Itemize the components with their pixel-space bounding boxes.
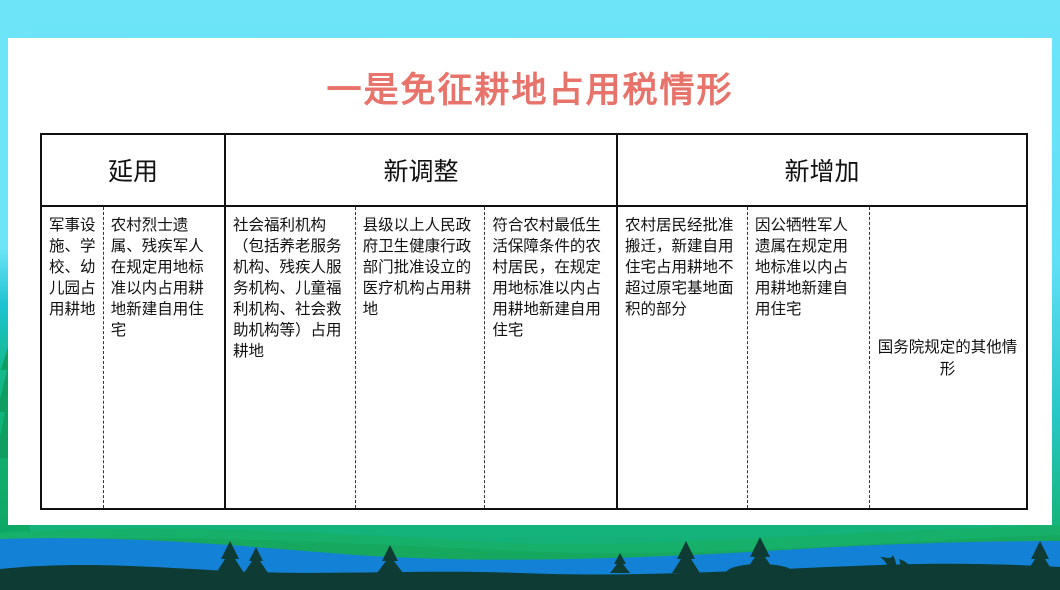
table-body: 军事设施、学校、幼儿园占用耕地 农村烈士遗属、残疾军人在规定用地标准以内占用耕地… xyxy=(42,207,1026,508)
table-cell: 农村居民经批准搬迁，新建自用住宅占用耕地不超过原宅基地面积的部分 xyxy=(618,207,748,508)
table-cell: 国务院规定的其他情形 xyxy=(870,207,1025,508)
table-header-row: 延用 新调整 新增加 xyxy=(42,135,1026,207)
page-title: 一是免征耕地占用税情形 xyxy=(8,62,1052,113)
table-group-header-xinzengjia: 新增加 xyxy=(618,135,1026,205)
exemption-table: 延用 新调整 新增加 军事设施、学校、幼儿园占用耕地 农村烈士遗属、残疾军人在规… xyxy=(40,133,1028,510)
table-group-yanyong: 军事设施、学校、幼儿园占用耕地 农村烈士遗属、残疾军人在规定用地标准以内占用耕地… xyxy=(42,207,226,508)
table-cell: 军事设施、学校、幼儿园占用耕地 xyxy=(42,207,104,508)
table-group-header-xintiaozheng: 新调整 xyxy=(226,135,618,205)
table-cell: 因公牺牲军人遗属在规定用地标准以内占用耕地新建自用住宅 xyxy=(748,207,870,508)
table-cell: 县级以上人民政府卫生健康行政部门批准设立的医疗机构占用耕地 xyxy=(356,207,486,508)
table-cell: 社会福利机构（包括养老服务机构、残疾人服务机构、儿童福利机构、社会救助机构等）占… xyxy=(226,207,356,508)
table-group-xinzengjia: 农村居民经批准搬迁，新建自用住宅占用耕地不超过原宅基地面积的部分 因公牺牲军人遗… xyxy=(618,207,1026,508)
table-group-header-yanyong: 延用 xyxy=(42,135,226,205)
table-group-xintiaozheng: 社会福利机构（包括养老服务机构、残疾人服务机构、儿童福利机构、社会救助机构等）占… xyxy=(226,207,618,508)
landscape-decoration xyxy=(0,515,1060,590)
table-cell: 符合农村最低生活保障条件的农村居民，在规定用地标准以内占用耕地新建自用住宅 xyxy=(485,207,616,508)
table-cell: 农村烈士遗属、残疾军人在规定用地标准以内占用耕地新建自用住宅 xyxy=(104,207,224,508)
